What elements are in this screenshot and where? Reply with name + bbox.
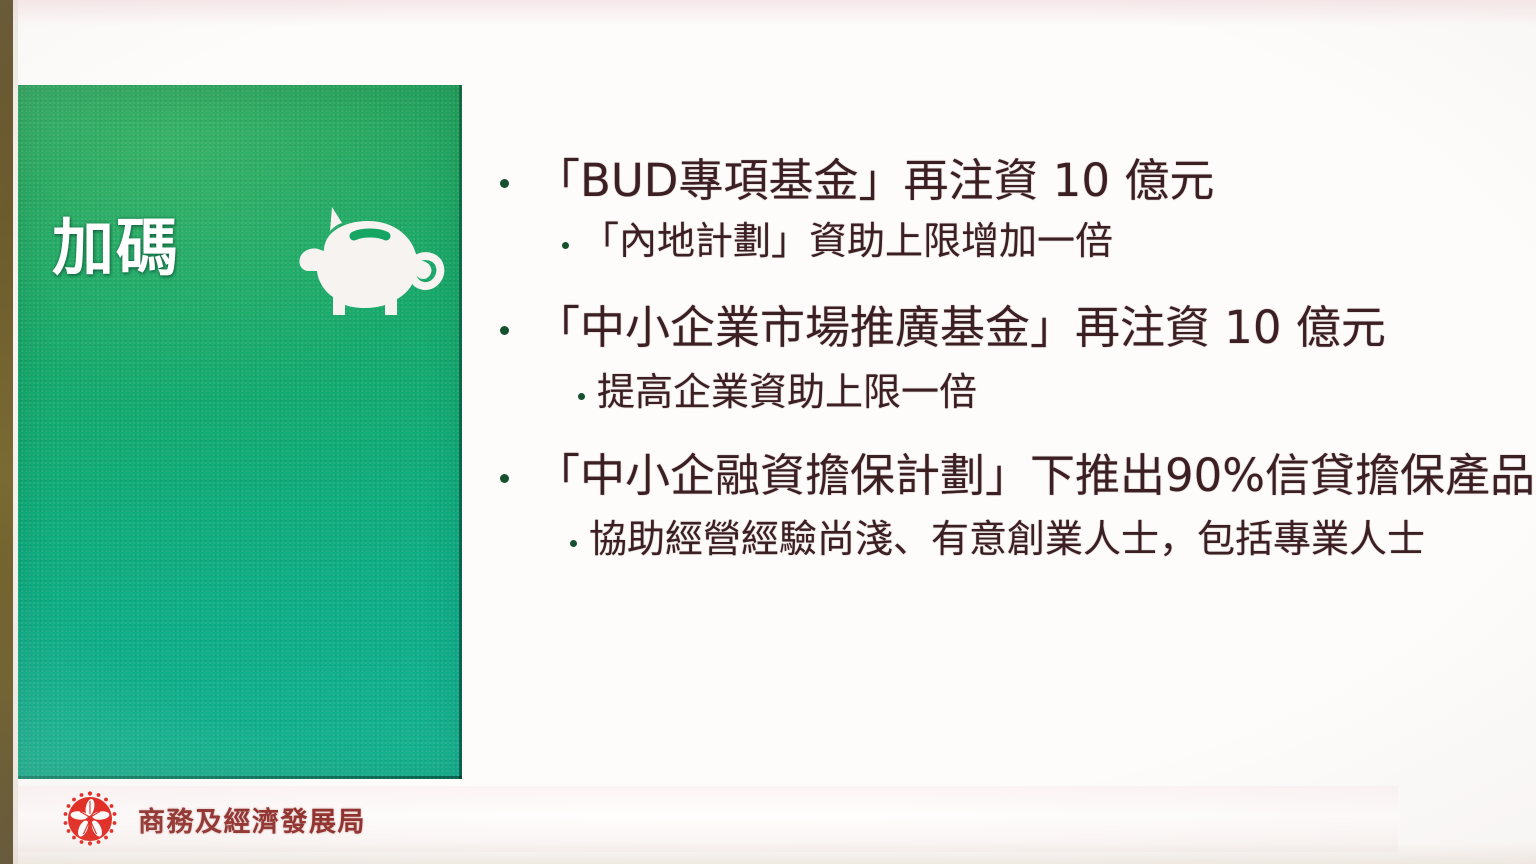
bullet-item-2-sub-1-text: 提高企業資助上限一倍 [597, 371, 977, 414]
bullet-item-2: 「中小企業市場推廣基金」再注資 10 億元 [500, 302, 1520, 353]
piggy-bank-icon [284, 197, 446, 337]
bullet-group-1: 「BUD專項基金」再注資 10 億元 「內地計劃」資助上限增加一倍 [500, 155, 1520, 264]
green-highlight-panel: 加碼 [16, 85, 462, 779]
bullet-item-1: 「BUD專項基金」再注資 10 億元 [500, 155, 1520, 206]
photo-left-edge-inner [13, 0, 18, 864]
panel-heading: 加碼 [52, 217, 180, 279]
photo-left-edge [0, 0, 13, 864]
bullet-group-2: 「中小企業市場推廣基金」再注資 10 億元 提高企業資助上限一倍 [500, 302, 1520, 415]
bureau-name-label: 商務及經濟發展局 [138, 800, 366, 839]
bullet-item-3-sub-1: 協助經營經驗尚淺、有意創業人士，包括專業人士 [570, 518, 1520, 561]
sub-bullet-dot-icon [578, 393, 585, 400]
photo-top-color-cast [13, 0, 1536, 26]
bullet-item-1-sub-1: 「內地計劃」資助上限增加一倍 [562, 220, 1520, 263]
bullet-dot-icon [500, 474, 509, 483]
bullet-list: 「BUD專項基金」再注資 10 億元 「內地計劃」資助上限增加一倍 「中小企業市… [500, 155, 1520, 675]
sub-bullet-dot-icon [562, 242, 569, 249]
bullet-dot-icon [500, 179, 509, 188]
slide-photo-frame: 加碼 「BU [0, 0, 1536, 864]
bullet-item-3: 「中小企融資擔保計劃」下推出90%信貸擔保產品 [500, 450, 1520, 501]
bullet-item-2-text: 「中小企業市場推廣基金」再注資 10 億元 [535, 302, 1386, 353]
footer-logo-bar: 商務及經濟發展局 [18, 786, 1398, 852]
bullet-item-1-sub-1-text: 「內地計劃」資助上限增加一倍 [581, 220, 1113, 263]
panel-grain-texture [16, 85, 462, 779]
bullet-item-1-text: 「BUD專項基金」再注資 10 億元 [535, 155, 1214, 206]
bullet-item-3-text: 「中小企融資擔保計劃」下推出90%信貸擔保產品 [535, 450, 1535, 501]
bullet-dot-icon [500, 326, 509, 335]
bullet-group-3: 「中小企融資擔保計劃」下推出90%信貸擔保產品 協助經營經驗尚淺、有意創業人士，… [500, 450, 1520, 561]
sub-bullet-dot-icon [570, 540, 577, 547]
bullet-item-2-sub-1: 提高企業資助上限一倍 [578, 371, 1520, 414]
bullet-item-3-sub-1-text: 協助經營經驗尚淺、有意創業人士，包括專業人士 [589, 518, 1425, 561]
hksar-bauhinia-emblem-icon [60, 789, 120, 849]
